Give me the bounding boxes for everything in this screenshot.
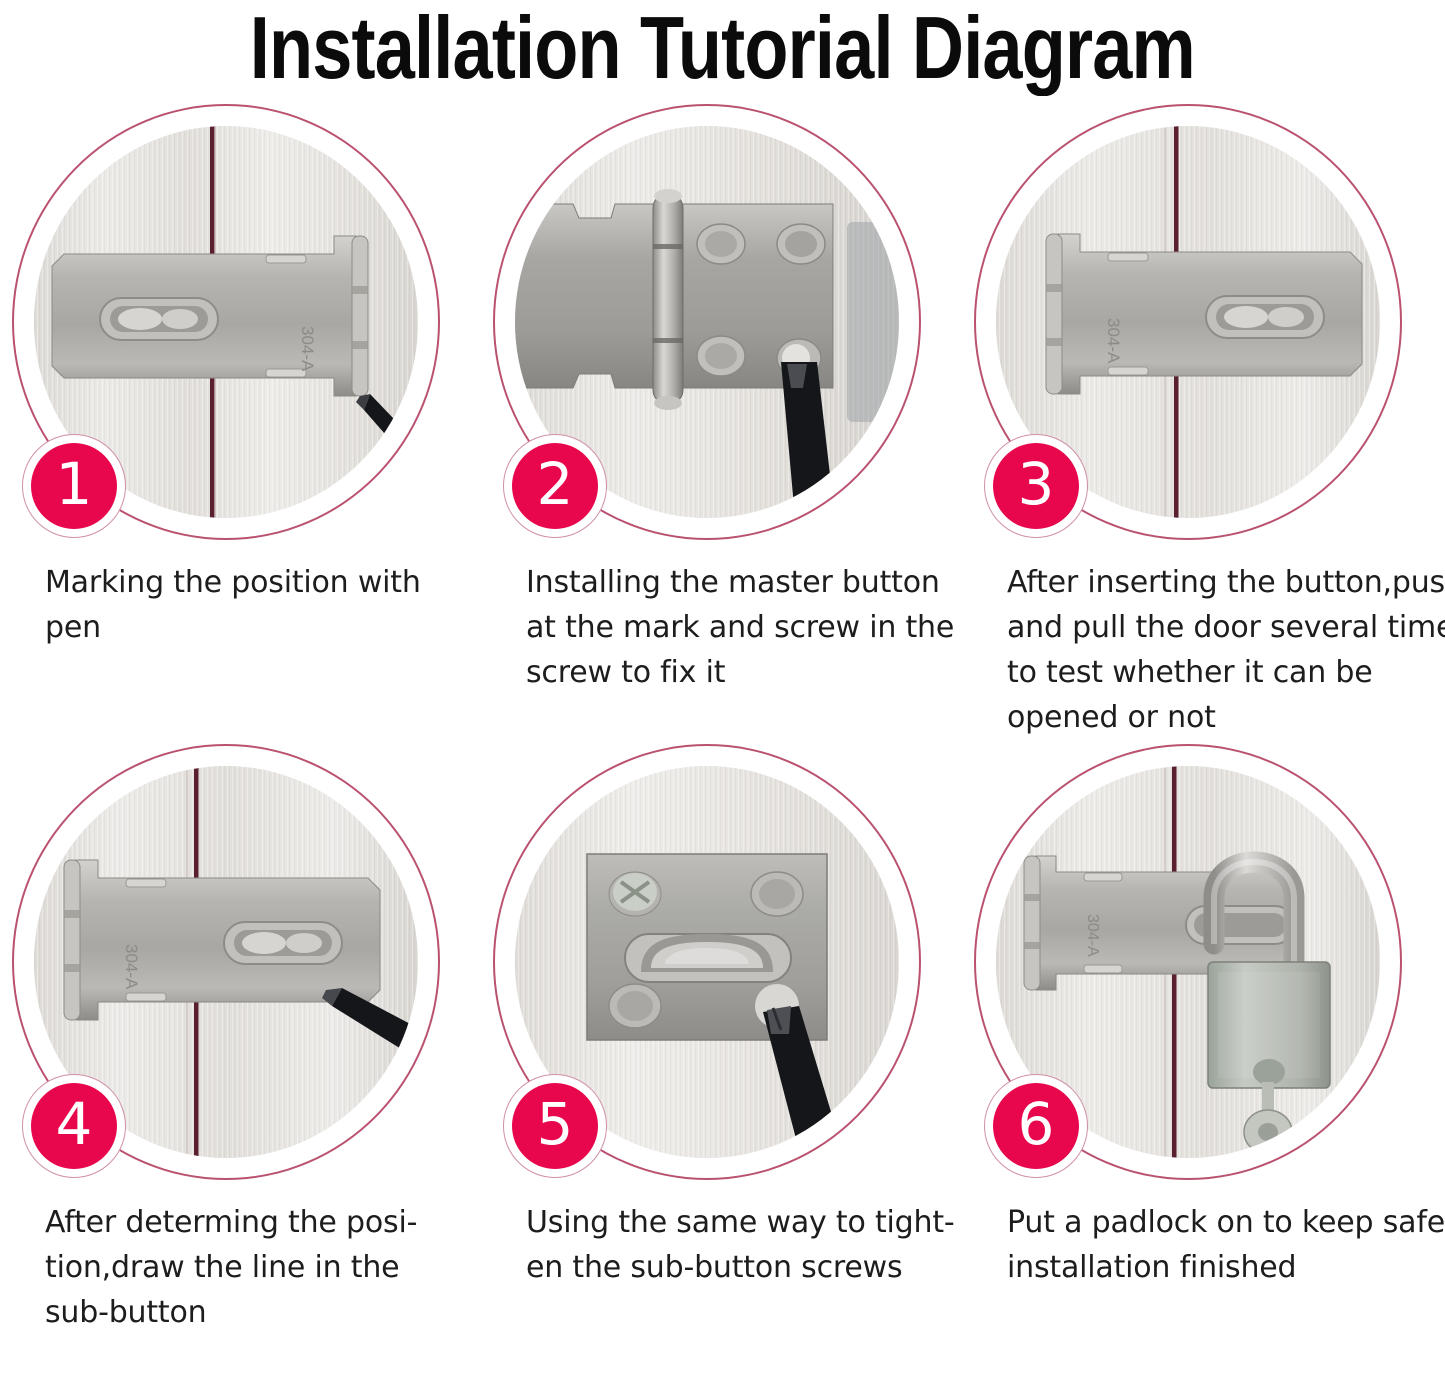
step-photo-5: 5 — [489, 736, 929, 1186]
badge-number-label: 6 — [993, 1083, 1079, 1169]
badge-number-label: 2 — [512, 443, 598, 529]
step-caption-2: Installing the master button at the mark… — [481, 546, 962, 736]
caption-line: en the sub-button screws — [526, 1245, 956, 1290]
steps-row-bottom: 304-A 4 After determing the posi- tion,d… — [0, 736, 1445, 1336]
caption-line: and pull the door several times — [1007, 605, 1437, 650]
badge-number-label: 4 — [31, 1083, 117, 1169]
svg-text:304-A: 304-A — [1084, 914, 1101, 957]
step-card-4: 304-A 4 After determing the posi- tion,d… — [0, 736, 481, 1336]
step-card-2: 2 Installing the master button at the ma… — [481, 96, 962, 736]
step-number-badge: 5 — [503, 1074, 607, 1178]
step-number-badge: 3 — [984, 434, 1088, 538]
step-caption-4: After determing the posi- tion,draw the … — [0, 1186, 481, 1336]
step-number-badge: 6 — [984, 1074, 1088, 1178]
page-header: Installation Tutorial Diagram — [0, 0, 1445, 96]
caption-line: screw to fix it — [526, 650, 956, 695]
caption-line: Installing the master button — [526, 560, 956, 605]
badge-number-label: 5 — [512, 1083, 598, 1169]
caption-line: After determing the posi- — [45, 1200, 475, 1245]
step-number-badge: 4 — [22, 1074, 126, 1178]
badge-number-label: 1 — [31, 443, 117, 529]
caption-line: Using the same way to tight- — [526, 1200, 956, 1245]
step-caption-3: After inserting the button,push and pull… — [962, 546, 1443, 736]
step-photo-1: 304-A 1 — [8, 96, 448, 546]
step-card-6: 304-A — [962, 736, 1443, 1336]
svg-text:304-A: 304-A — [1104, 318, 1123, 364]
step-caption-1: Marking the position with pen — [0, 546, 481, 736]
caption-line: After inserting the button,push — [1007, 560, 1437, 605]
caption-line: sub-button — [45, 1290, 475, 1335]
caption-line: to test whether it can be — [1007, 650, 1437, 695]
step-photo-3: 304-A 3 — [970, 96, 1410, 546]
caption-line: at the mark and screw in the — [526, 605, 956, 650]
step-photo-6: 304-A — [970, 736, 1410, 1186]
caption-line: pen — [45, 605, 475, 650]
caption-line: Marking the position with — [45, 560, 475, 605]
badge-number-label: 3 — [993, 443, 1079, 529]
caption-line: installation finished — [1007, 1245, 1437, 1290]
step-card-1: 304-A 1 Marking the position with pen — [0, 96, 481, 736]
step-caption-5: Using the same way to tight- en the sub-… — [481, 1186, 962, 1336]
caption-line: opened or not — [1007, 695, 1437, 740]
step-number-badge: 2 — [503, 434, 607, 538]
caption-line: Put a padlock on to keep safe, — [1007, 1200, 1437, 1245]
step-card-3: 304-A 3 After inserting the button,push … — [962, 96, 1443, 736]
step-card-5: 5 Using the same way to tight- en the su… — [481, 736, 962, 1336]
step-photo-4: 304-A 4 — [8, 736, 448, 1186]
svg-text:304-A: 304-A — [122, 944, 141, 990]
caption-line: tion,draw the line in the — [45, 1245, 475, 1290]
step-number-badge: 1 — [22, 434, 126, 538]
steps-row-top: 304-A 1 Marking the position with pen — [0, 96, 1445, 736]
svg-text:304-A: 304-A — [298, 326, 317, 372]
tutorial-steps-grid: 304-A 1 Marking the position with pen — [0, 96, 1445, 1336]
page-title: Installation Tutorial Diagram — [250, 2, 1195, 94]
step-photo-2: 2 — [489, 96, 929, 546]
step-caption-6: Put a padlock on to keep safe, installat… — [962, 1186, 1443, 1336]
